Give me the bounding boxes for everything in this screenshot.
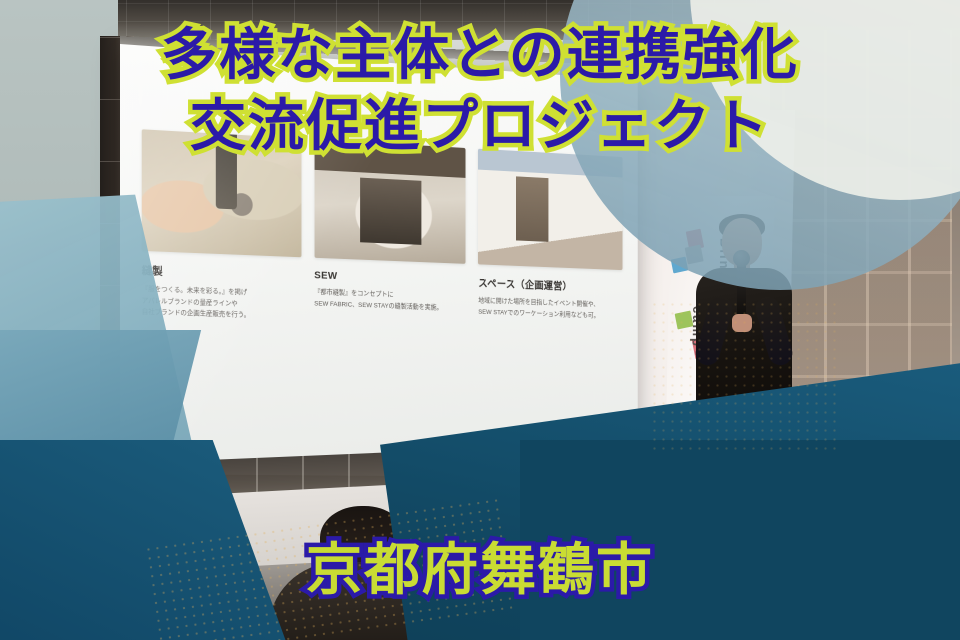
slide-top-note: 三体像 bbox=[292, 62, 320, 77]
column-description: 『服をつくる。未来を彩る。』を掲げ アパレルブランドの量産ラインや 自社ブランド… bbox=[142, 284, 301, 323]
column-heading: 縫製 bbox=[142, 263, 301, 284]
slide-columns: 縫製 『服をつくる。未来を彩る。』を掲げ アパレルブランドの量産ラインや 自社ブ… bbox=[142, 129, 623, 332]
column-description: 地域に開けた場所を目指したイベント開催や、 SEW STAYでのワーケーション利… bbox=[478, 296, 622, 322]
audience-shoulders bbox=[736, 448, 860, 524]
slide-photo-overlay-card: 三体像 縫製 『服をつくる。未来を彩る。』を掲げ アパレルブランドの量産ラインや… bbox=[0, 0, 960, 640]
white-building-photo-icon bbox=[478, 149, 622, 270]
slide-column-sewing: 縫製 『服をつくる。未来を彩る。』を掲げ アパレルブランドの量産ラインや 自社ブ… bbox=[142, 129, 301, 323]
microphone-head-icon bbox=[733, 250, 750, 267]
podium-logo-icon bbox=[862, 408, 892, 438]
slide-column-space: スペース（企画運営） 地域に開けた場所を目指したイベント開催や、 SEW STA… bbox=[478, 149, 622, 333]
presentation-slide: 三体像 縫製 『服をつくる。未来を彩る。』を掲げ アパレルブランドの量産ラインや… bbox=[120, 44, 638, 478]
audience-member-front bbox=[268, 506, 448, 640]
sewing-machine-photo-icon bbox=[142, 129, 301, 257]
shoji-screen-wall bbox=[782, 30, 952, 430]
audience-collar-right bbox=[488, 538, 510, 602]
audience-shoulders bbox=[268, 562, 458, 640]
column-description: 『都市縫製』をコンセプトに SEW FABRIC、SEW STAYの縫製活動を実… bbox=[314, 287, 466, 314]
machiya-house-photo-icon bbox=[314, 139, 466, 264]
column-heading: SEW bbox=[314, 269, 466, 286]
presenter-hand bbox=[732, 314, 752, 332]
projection-screen: 三体像 縫製 『服をつくる。未来を彩る。』を掲げ アパレルブランドの量産ラインや… bbox=[120, 44, 638, 478]
banner-square-blue-icon bbox=[671, 257, 688, 274]
audience-member-right bbox=[736, 398, 856, 518]
event-photo: 三体像 縫製 『服をつくる。未来を彩る。』を掲げ アパレルブランドの量産ラインや… bbox=[0, 0, 960, 640]
slide-column-sew: SEW 『都市縫製』をコンセプトに SEW FABRIC、SEW STAYの縫製… bbox=[314, 139, 466, 328]
column-heading: スペース（企画運営） bbox=[478, 276, 622, 295]
